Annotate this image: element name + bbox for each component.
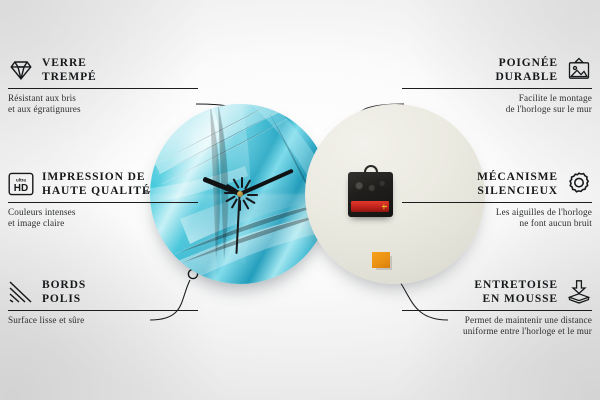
feature-desc-line2: et aux égratignures: [8, 104, 198, 115]
feature-header: POIGNÉE DURABLE: [402, 56, 592, 84]
feature-title: ENTRETOISE EN MOUSSE: [474, 278, 558, 306]
divider: [8, 88, 198, 89]
divider: [8, 310, 198, 311]
divider: [402, 310, 592, 311]
feature-desc-line1: Surface lisse et sûre: [8, 315, 198, 326]
feature-desc-line2: uniforme entre l'horloge et le mur: [402, 326, 592, 337]
feature-desc-line1: Facilite le montage: [402, 93, 592, 104]
feature-bords-polis: BORDS POLIS Surface lisse et sûre: [8, 278, 198, 326]
feature-header: VERRE TREMPÉ: [8, 56, 198, 84]
feature-desc-line2: de l'horloge sur le mur: [402, 104, 592, 115]
feature-desc-line1: Les aiguilles de l'horloge: [402, 207, 592, 218]
divider: [402, 88, 592, 89]
clock-center-pin: [237, 191, 243, 197]
mechanism-detail: [353, 179, 387, 194]
battery: [351, 201, 389, 212]
foam-spacer: [372, 252, 390, 268]
feature-title: VERRE TREMPÉ: [42, 56, 97, 84]
feature-header: BORDS POLIS: [8, 278, 198, 306]
hour-tick: [241, 177, 243, 188]
feature-header: MÉCANISME SILENCIEUX: [402, 170, 592, 198]
feature-desc-line2: et image claire: [8, 218, 198, 229]
hanging-loop: [364, 165, 378, 174]
divider: [402, 202, 592, 203]
polished-edges-icon: [8, 279, 34, 305]
feature-impression-haute-qualite: ultra HD IMPRESSION DE HAUTE QUALITÉ Cou…: [8, 170, 198, 230]
feature-desc-line1: Couleurs intenses: [8, 207, 198, 218]
feature-header: ENTRETOISE EN MOUSSE: [402, 278, 592, 306]
feature-mecanisme-silencieux: MÉCANISME SILENCIEUX Les aiguilles de l'…: [402, 170, 592, 230]
svg-text:ultra: ultra: [16, 178, 26, 183]
feature-desc-line1: Permet de maintenir une distance: [402, 315, 592, 326]
clock-mechanism: [348, 172, 393, 217]
feature-entretoise-en-mousse: ENTRETOISE EN MOUSSE Permet de maintenir…: [402, 278, 592, 338]
feature-desc-line2: ne font aucun bruit: [402, 218, 592, 229]
hanging-frame-icon: [566, 57, 592, 83]
divider: [8, 202, 198, 203]
feature-desc-line1: Résistant aux bris: [8, 93, 198, 104]
feature-title: IMPRESSION DE HAUTE QUALITÉ: [42, 170, 151, 198]
hour-tick: [247, 194, 258, 196]
feature-title: MÉCANISME SILENCIEUX: [477, 170, 558, 198]
feature-header: ultra HD IMPRESSION DE HAUTE QUALITÉ: [8, 170, 198, 198]
feature-title: BORDS POLIS: [42, 278, 86, 306]
gear-icon: [566, 171, 592, 197]
feature-poignee-durable: POIGNÉE DURABLE Facilite le montage de l…: [402, 56, 592, 116]
feature-verre-trempe: VERRE TREMPÉ Résistant aux bris et aux é…: [8, 56, 198, 116]
foam-spacer-arrow-icon: [566, 279, 592, 305]
ultra-hd-icon: ultra HD: [8, 171, 34, 197]
feature-title: POIGNÉE DURABLE: [495, 56, 558, 84]
svg-text:HD: HD: [14, 183, 28, 194]
diamond-icon: [8, 57, 34, 83]
